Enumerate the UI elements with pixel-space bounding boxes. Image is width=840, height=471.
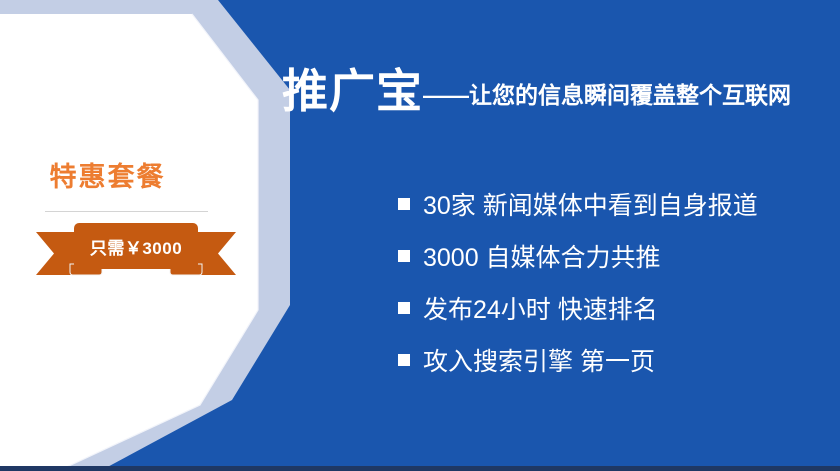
bullet-square-icon: [398, 302, 410, 314]
feature-text: 30家 新闻媒体中看到自身报道: [423, 186, 758, 222]
feature-text: 攻入搜索引擎 第一页: [423, 342, 655, 378]
promo-block: 特惠套餐 只需￥3000: [0, 160, 250, 290]
list-item: 3000 自媒体合力共推: [398, 230, 818, 282]
feature-text: 发布24小时 快速排名: [423, 290, 658, 326]
feature-text: 3000 自媒体合力共推: [423, 238, 661, 274]
feature-list: 30家 新闻媒体中看到自身报道 3000 自媒体合力共推 发布24小时 快速排名…: [398, 178, 818, 386]
price-ribbon: 只需￥3000: [36, 220, 236, 282]
brand-name: 推广宝: [282, 65, 423, 117]
list-item: 攻入搜索引擎 第一页: [398, 334, 818, 386]
headline: 推广宝——让您的信息瞬间覆盖整个互联网: [282, 68, 834, 114]
promotional-slide: 特惠套餐 只需￥3000 推广宝——让您的信息瞬间覆盖整个互联网 30家 新闻媒: [0, 0, 840, 471]
bullet-square-icon: [398, 354, 410, 366]
bottom-accent-strip: [0, 466, 840, 471]
list-item: 30家 新闻媒体中看到自身报道: [398, 178, 818, 230]
promo-title: 特惠套餐: [0, 160, 215, 194]
list-item: 发布24小时 快速排名: [398, 282, 818, 334]
promo-divider: [45, 211, 208, 212]
headline-tagline: ——让您的信息瞬间覆盖整个互联网: [423, 82, 791, 108]
bullet-square-icon: [398, 250, 410, 262]
ribbon-price-label: 只需￥3000: [36, 234, 236, 259]
bullet-square-icon: [398, 198, 410, 210]
